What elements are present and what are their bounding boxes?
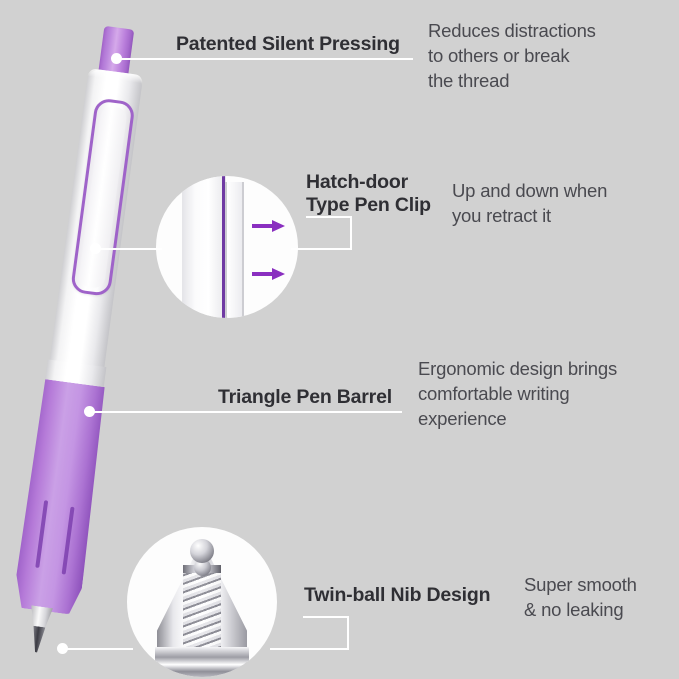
desc-line: you retract it	[452, 203, 657, 228]
pen-metal-cone	[28, 605, 53, 630]
desc-line: Super smooth	[524, 572, 674, 597]
callout-line-pen-barrel	[90, 411, 402, 413]
callout-desc-nib-design: Super smooth & no leaking	[524, 572, 674, 622]
product-feature-diagram: Patented Silent Pressing Reduces distrac…	[0, 0, 679, 679]
desc-line: Reduces distractions	[428, 18, 643, 43]
desc-line: experience	[418, 406, 658, 431]
label-line: Type Pen Clip	[306, 194, 431, 217]
callout-label-pen-clip: Hatch-door Type Pen Clip	[306, 171, 431, 217]
desc-line: & no leaking	[524, 597, 674, 622]
closeup-barrel-surface	[182, 176, 226, 318]
desc-line: Ergonomic design brings	[418, 356, 658, 381]
arrow-right-icon-upper	[252, 220, 286, 232]
callout-desc-pen-clip: Up and down when you retract it	[452, 178, 657, 228]
desc-line: to others or break	[428, 43, 643, 68]
callout-line-nib-right	[270, 648, 349, 650]
callout-line-pen-clip-riser	[350, 217, 352, 250]
zoom-circle-clip-closeup	[156, 176, 298, 318]
callout-line-nib-left	[63, 648, 133, 650]
callout-label-nib-design: Twin-ball Nib Design	[304, 584, 490, 607]
callout-line-nib-underline	[303, 616, 349, 618]
callout-label-silent-pressing: Patented Silent Pressing	[176, 33, 400, 56]
callout-desc-silent-pressing: Reduces distractions to others or break …	[428, 18, 643, 93]
closeup-clip-arm	[225, 182, 244, 318]
zoom-circle-nib-closeup	[127, 527, 277, 677]
callout-label-pen-barrel: Triangle Pen Barrel	[218, 386, 392, 409]
closeup-nib-spring	[183, 573, 221, 651]
pen-nib-tip	[30, 626, 45, 653]
callout-line-pen-clip-right	[291, 248, 352, 250]
desc-line: the thread	[428, 68, 643, 93]
callout-desc-pen-barrel: Ergonomic design brings comfortable writ…	[418, 356, 658, 431]
desc-line: comfortable writing	[418, 381, 658, 406]
callout-line-nib-riser	[347, 617, 349, 650]
arrow-right-icon-lower	[252, 268, 286, 280]
callout-line-silent-pressing	[117, 58, 413, 60]
label-line: Hatch-door	[306, 171, 431, 194]
desc-line: Up and down when	[452, 178, 657, 203]
closeup-nib-collar	[155, 647, 249, 677]
callout-line-pen-clip-left	[96, 248, 162, 250]
closeup-nib-ball-large	[190, 539, 214, 563]
